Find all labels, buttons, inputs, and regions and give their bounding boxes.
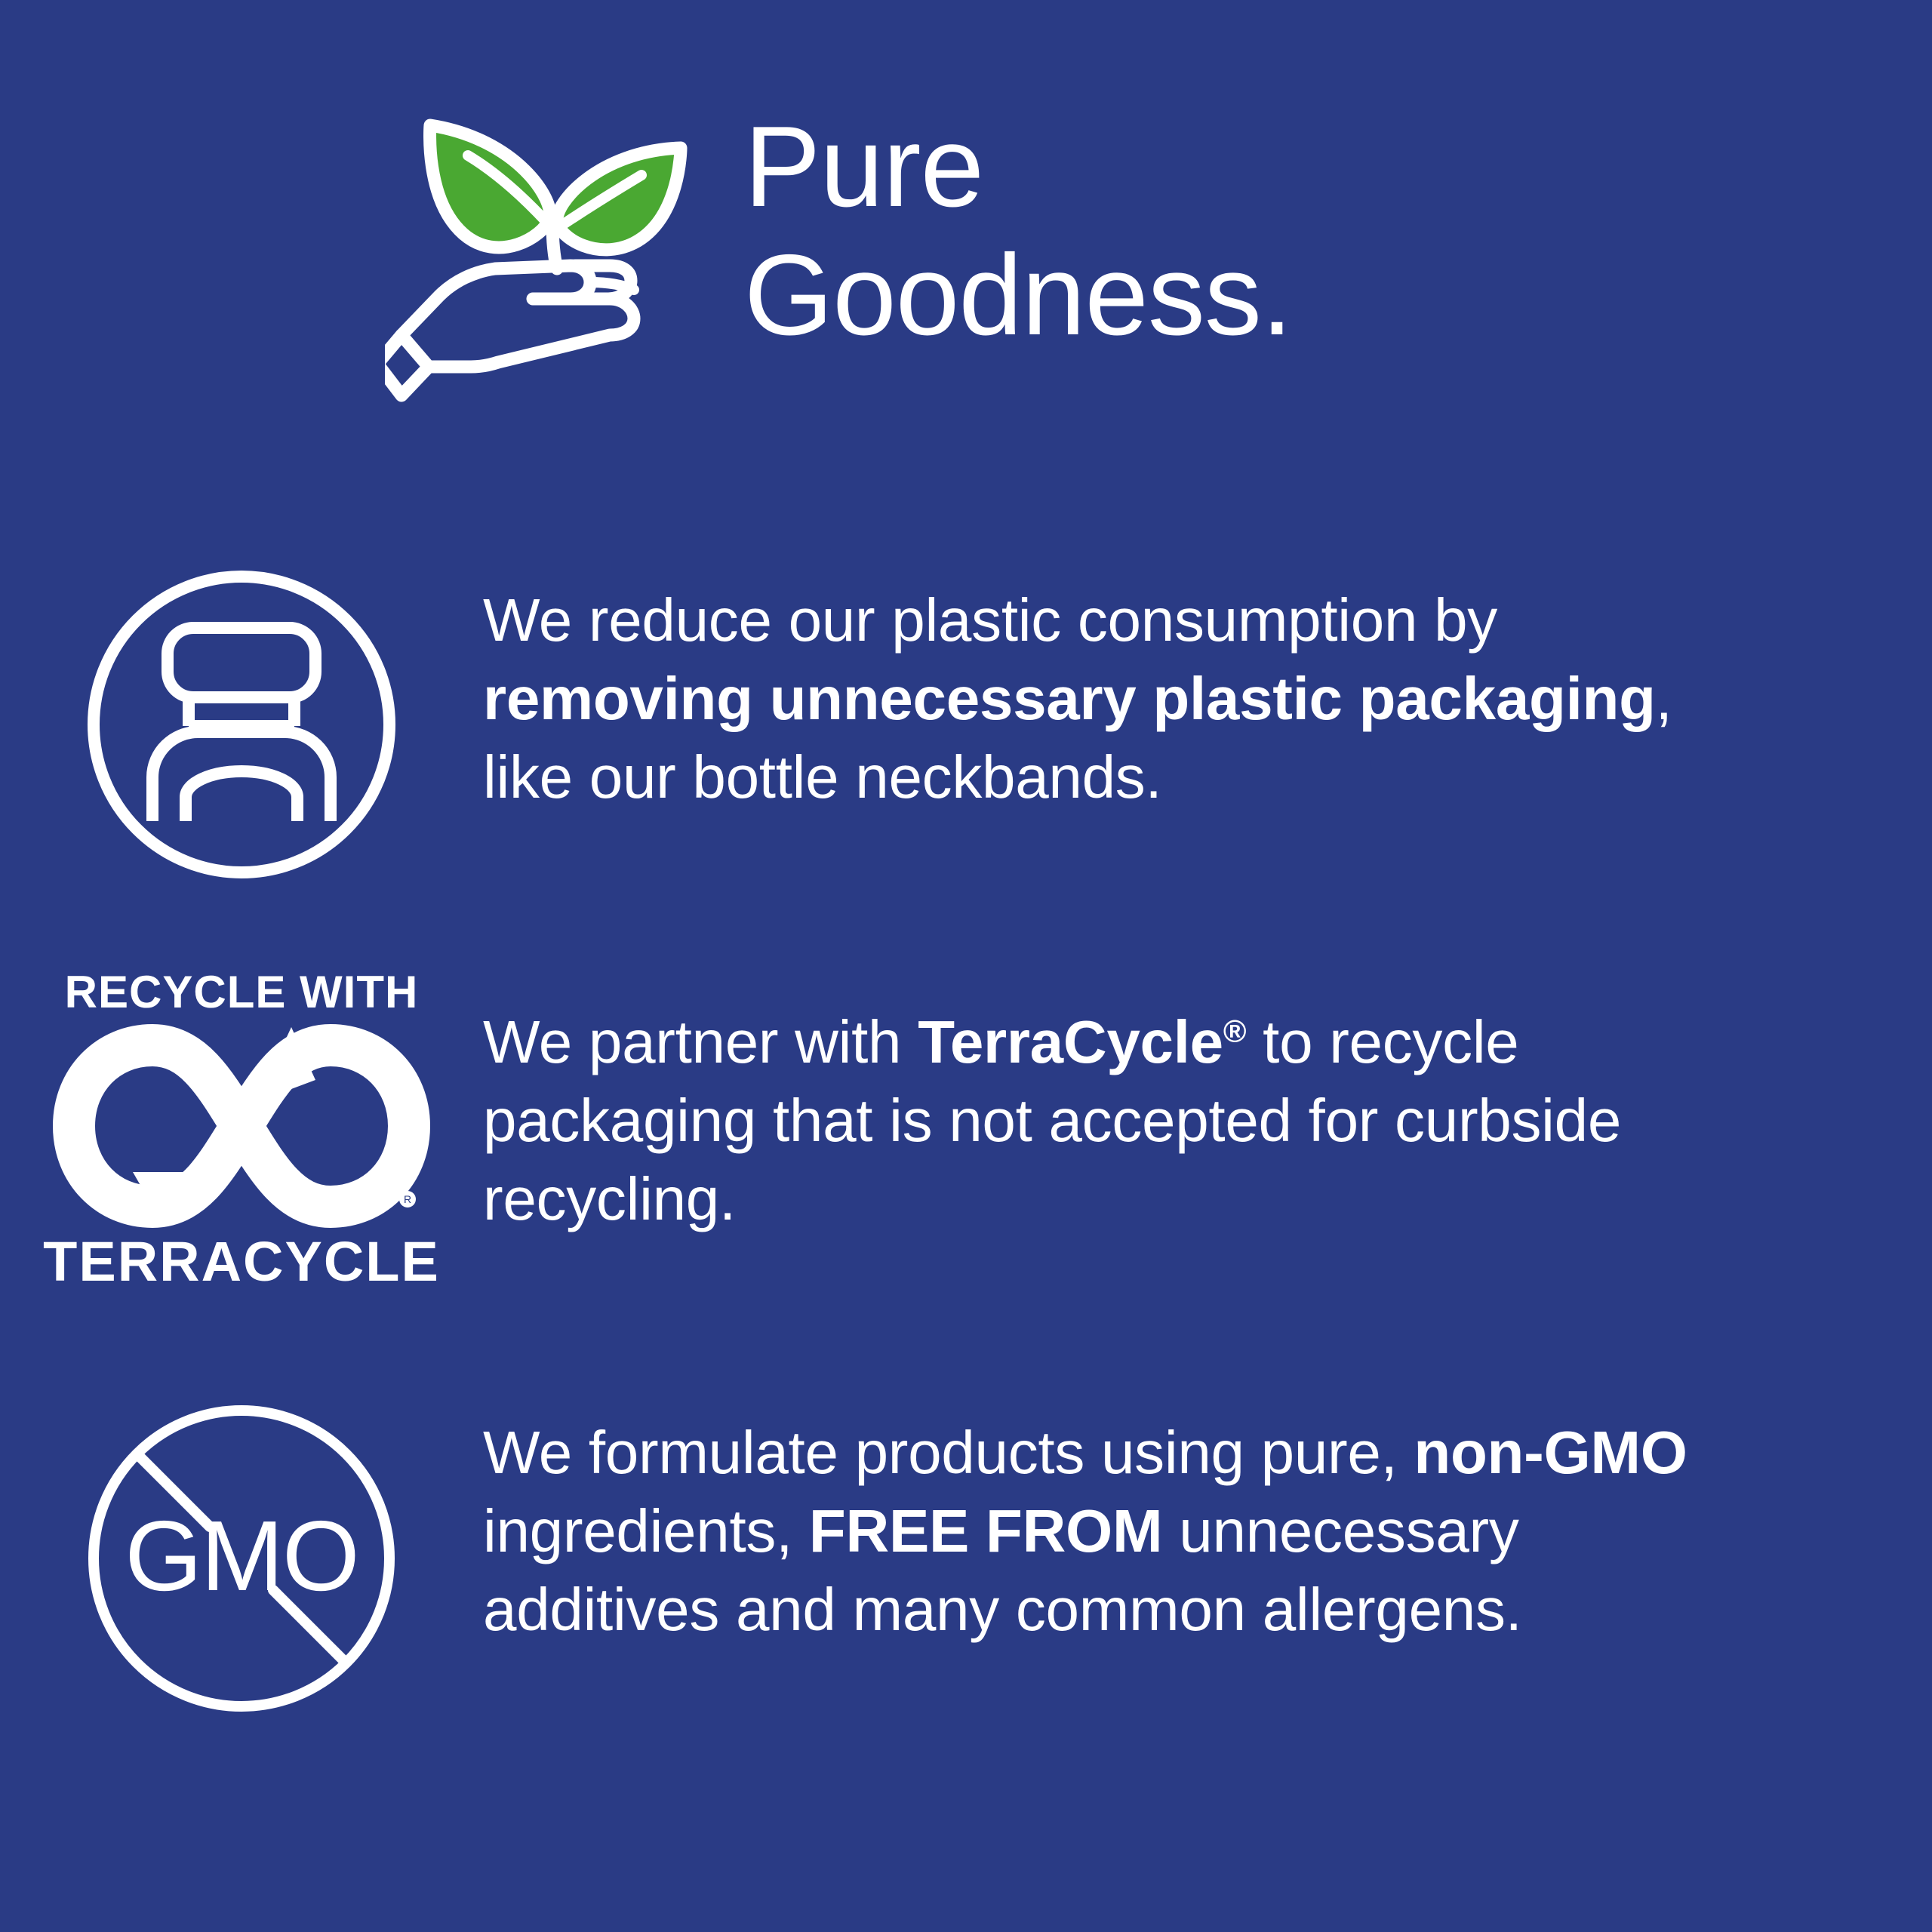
feature-row-terracycle: RECYCLE WITH R TERRACYCLE We partner wit… [0, 970, 1932, 1290]
terracycle-bottom-label: TERRACYCLE [43, 1234, 440, 1290]
terracycle-infinity-icon: R [53, 1024, 430, 1228]
svg-text:R: R [404, 1193, 411, 1205]
page-title-line-1: Pure [744, 103, 983, 231]
feature-text-plastic-reduction: We reduce our plastic consumption by rem… [483, 558, 1706, 817]
feature-icon-slot: RECYCLE WITH R TERRACYCLE [0, 970, 483, 1290]
feature-icon-slot [0, 558, 483, 887]
feature-row-non-gmo: GMO We formulate products using pure, no… [0, 1388, 1932, 1721]
brand-lockup: Pure Goodness. [385, 98, 1292, 411]
feature-icon-slot: GMO [0, 1388, 483, 1721]
terracycle-top-label: RECYCLE WITH [65, 970, 419, 1015]
hand-holding-sprout-icon [385, 109, 709, 411]
terracycle-logo: RECYCLE WITH R TERRACYCLE [53, 970, 430, 1290]
bottle-neckband-circle-icon [83, 566, 400, 887]
feature-text-non-gmo: We formulate products using pure, non-GM… [483, 1388, 1706, 1649]
svg-text:GMO: GMO [125, 1500, 358, 1611]
feature-list: We reduce our plastic consumption by rem… [0, 558, 1932, 1721]
page-title-line-2: Goodness. [744, 231, 1292, 359]
no-gmo-circle-icon: GMO [83, 1400, 400, 1721]
page-title: Pure Goodness. [744, 98, 1292, 359]
feature-text-terracycle: We partner with TerraCycle® to recycle p… [483, 970, 1706, 1238]
feature-row-plastic-reduction: We reduce our plastic consumption by rem… [0, 558, 1932, 887]
